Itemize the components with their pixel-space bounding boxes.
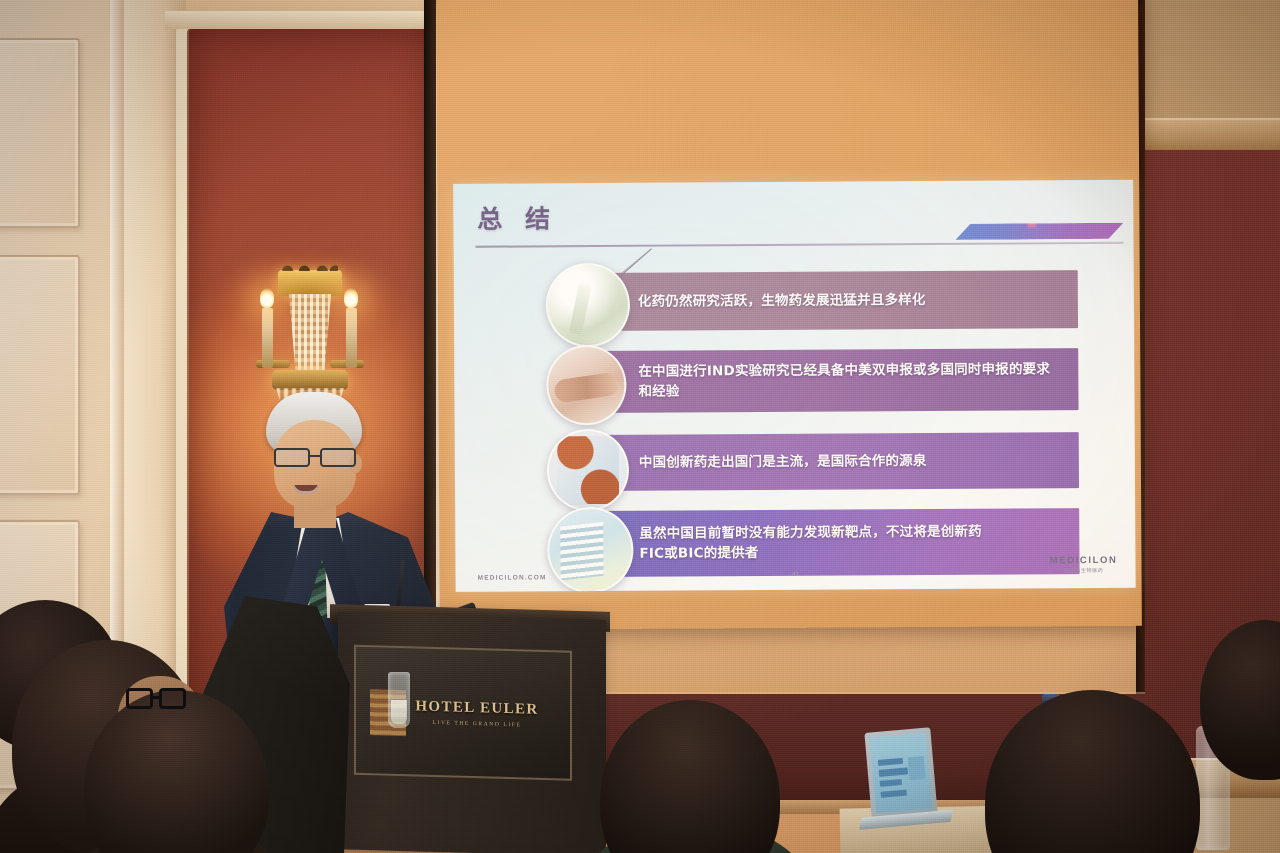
sconce-candle-right xyxy=(346,308,357,368)
bullet-bar-3: 中国创新药走出国门是主流，是国际合作的源泉 xyxy=(591,432,1079,491)
slide-footer-url: MEDICILON.COM xyxy=(478,574,547,581)
sconce-flame-right xyxy=(344,288,358,308)
laptop-screen xyxy=(870,733,932,814)
podium: HOTEL EULER LIVE THE GRAND LIFE xyxy=(338,612,606,853)
venue-name: HOTEL EULER xyxy=(415,698,538,718)
laptop-screen-line-1 xyxy=(877,758,903,766)
projection-screen: 总 结 化药仍然研究活跃，生物药发展迅猛并且多样化 在中国进行IND实验研究已经… xyxy=(436,0,1142,630)
globe-hands-photo-icon xyxy=(547,429,629,511)
wall-panel-1 xyxy=(0,38,80,228)
bullet-text-4: 虽然中国目前暂时没有能力发现新靶点，不过将是创新药FIC或BIC的提供者 xyxy=(591,521,998,564)
bullet-bar-4: 虽然中国目前暂时没有能力发现新靶点，不过将是创新药FIC或BIC的提供者 xyxy=(591,508,1079,577)
slide-page-number: 41 xyxy=(792,572,799,578)
bullet-text-2: 在中国进行IND实验研究已经具备中美双申报或多国同时申报的要求和经验 xyxy=(590,359,1078,402)
water-glass-icon xyxy=(388,672,410,728)
brand-subtitle: 美迪西生物医药 xyxy=(1050,567,1118,574)
sconce-bowl xyxy=(272,370,348,390)
bullet-row-1: 化药仍然研究活跃，生物药发展迅猛并且多样化 xyxy=(454,260,1134,264)
sconce-candle-left xyxy=(262,308,273,368)
laptop-screen-line-3 xyxy=(879,779,902,787)
glasses-lens-left xyxy=(274,448,310,467)
laptop-screen-thumbnail xyxy=(908,756,926,780)
presentation-slide: 总 结 化药仍然研究活跃，生物药发展迅猛并且多样化 在中国进行IND实验研究已经… xyxy=(453,180,1135,592)
bullet-bar-2: 在中国进行IND实验研究已经具备中美双申报或多国同时申报的要求和经验 xyxy=(590,348,1078,413)
audience-lens-left xyxy=(126,688,153,709)
brand-name: MEDICILON xyxy=(1050,555,1118,566)
laptop-lid xyxy=(864,727,937,818)
bullet-row-3: 中国创新药走出国门是主流，是国际合作的源泉 xyxy=(454,260,1134,264)
glasses-bridge xyxy=(310,455,320,457)
wall-panel-2 xyxy=(0,255,80,495)
bullet-row-2: 在中国进行IND实验研究已经具备中美双申报或多国同时申报的要求和经验 xyxy=(454,260,1134,264)
podium-venue-sign: HOTEL EULER LIVE THE GRAND LIFE xyxy=(354,645,572,781)
bullet-text-1: 化药仍然研究活跃，生物药发展迅猛并且多样化 xyxy=(590,290,942,312)
sconce-crystal-drops xyxy=(286,294,334,372)
right-wall-upper-trim xyxy=(1145,118,1280,152)
laptop-screen-line-2 xyxy=(878,768,908,777)
slide-brand-logo: MEDICILON 美迪西生物医药 xyxy=(1050,555,1118,574)
lab-pipette-photo-icon xyxy=(546,263,631,348)
title-underline xyxy=(476,242,1124,248)
glasses-lens-right xyxy=(320,448,356,467)
speaker-glasses-icon xyxy=(270,448,362,468)
photo-scene: 总 结 化药仍然研究活跃，生物药发展迅猛并且多样化 在中国进行IND实验研究已经… xyxy=(0,0,1280,853)
laptop-icon xyxy=(864,727,937,818)
handshake-photo-icon xyxy=(546,345,626,425)
slide-bullet-list: 化药仍然研究活跃，生物药发展迅猛并且多样化 在中国进行IND实验研究已经具备中美… xyxy=(454,260,1134,264)
slide-title: 总 结 xyxy=(477,199,557,235)
audience-glasses-bridge xyxy=(152,696,161,699)
venue-tagline: LIVE THE GRAND LIFE xyxy=(433,719,522,727)
audience-lens-right xyxy=(159,688,186,709)
bullet-text-3: 中国创新药走出国门是主流，是国际合作的源泉 xyxy=(591,451,943,473)
sconce-flame-left xyxy=(260,288,274,308)
laptop-screen-line-4 xyxy=(880,789,907,797)
bullet-bar-1: 化药仍然研究活跃，生物药发展迅猛并且多样化 xyxy=(590,270,1078,331)
bullet-row-4: 虽然中国目前暂时没有能力发现新靶点，不过将是创新药FIC或BIC的提供者 xyxy=(454,260,1134,264)
title-decoration-bar xyxy=(955,223,1123,240)
sconce-crown xyxy=(278,270,342,296)
laboratory-building-photo-icon xyxy=(547,507,634,592)
audience-glasses-icon xyxy=(126,688,190,710)
